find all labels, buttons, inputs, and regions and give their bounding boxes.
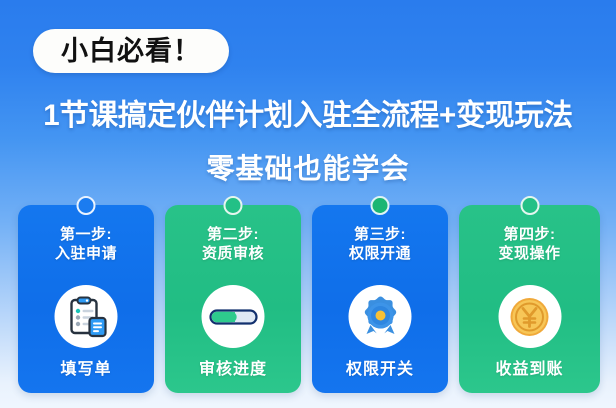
step-footer-3: 权限开关 bbox=[312, 355, 448, 379]
step-label-2: 第二步: bbox=[207, 226, 259, 243]
clipboard-form-icon bbox=[55, 285, 118, 348]
step-title-2: 资质审核 bbox=[165, 244, 301, 263]
step-card-4[interactable]: 第四步: 变现操作 收益到账 bbox=[459, 205, 600, 393]
step-card-2[interactable]: 第二步: 资质审核 审核进度 bbox=[165, 205, 301, 393]
step-label-1: 第一步: bbox=[60, 226, 112, 243]
step-heading-3: 第三步: 权限开通 bbox=[312, 225, 448, 263]
highlight-badge: 小白必看！ bbox=[33, 29, 229, 73]
step-knob-1 bbox=[77, 196, 96, 215]
step-label-3: 第三步: bbox=[354, 226, 406, 243]
step-footer-1: 填写单 bbox=[18, 355, 154, 379]
step-title-3: 权限开通 bbox=[312, 244, 448, 263]
step-footer-4: 收益到账 bbox=[459, 355, 600, 379]
yen-coin-icon bbox=[498, 285, 561, 348]
step-title-1: 入驻申请 bbox=[18, 244, 154, 263]
step-knob-4 bbox=[520, 196, 539, 215]
highlight-badge-label: 小白必看！ bbox=[61, 38, 201, 65]
step-label-4: 第四步: bbox=[504, 226, 556, 243]
step-heading-2: 第二步: 资质审核 bbox=[165, 225, 301, 263]
step-heading-4: 第四步: 变现操作 bbox=[459, 225, 600, 263]
step-title-4: 变现操作 bbox=[459, 244, 600, 263]
progress-bar-icon bbox=[202, 285, 265, 348]
headline-title: 1节课搞定伙伴计划入驻全流程+变现玩法 bbox=[0, 92, 616, 134]
promo-poster: 小白必看！ 1节课搞定伙伴计划入驻全流程+变现玩法 零基础也能学会 第一步: 入… bbox=[0, 0, 616, 408]
step-card-1[interactable]: 第一步: 入驻申请 bbox=[18, 205, 154, 393]
steps-row: 第一步: 入驻申请 bbox=[0, 196, 616, 401]
step-card-3[interactable]: 第三步: 权限开通 权限开关 bbox=[312, 205, 448, 393]
step-footer-2: 审核进度 bbox=[165, 355, 301, 379]
step-heading-1: 第一步: 入驻申请 bbox=[18, 225, 154, 263]
gear-icon bbox=[349, 285, 412, 348]
step-knob-3 bbox=[371, 196, 390, 215]
step-knob-2 bbox=[224, 196, 243, 215]
headline-subtitle: 零基础也能学会 bbox=[0, 147, 616, 187]
